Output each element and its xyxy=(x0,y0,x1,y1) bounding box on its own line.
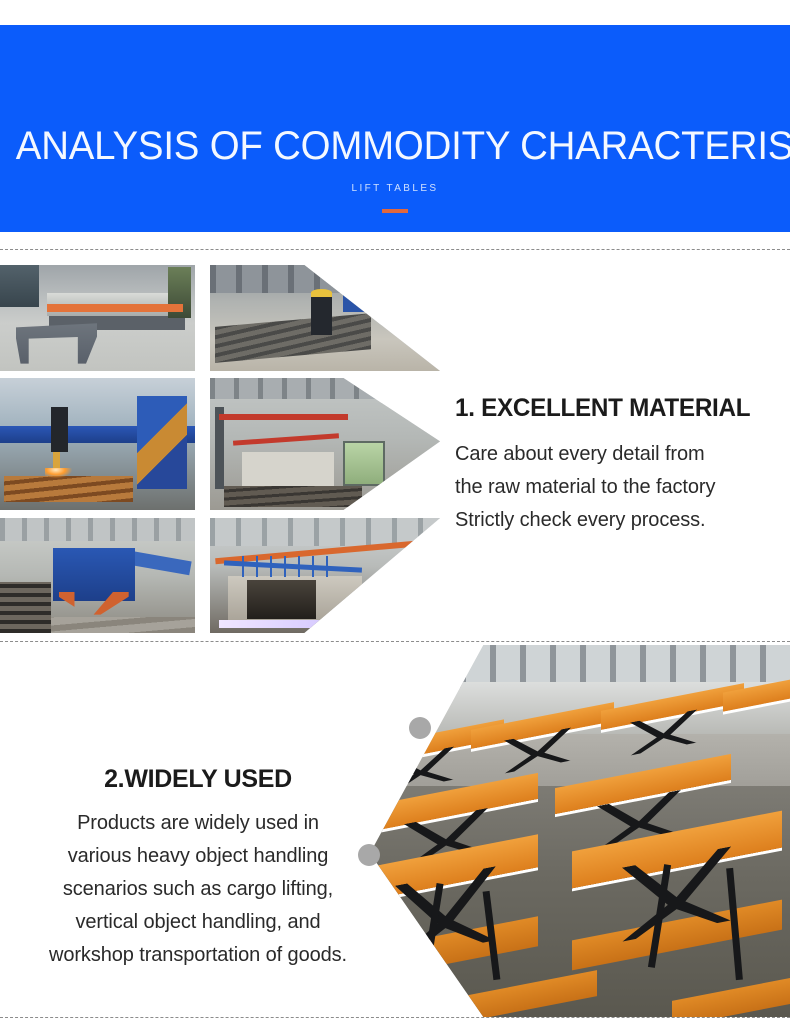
section-1-body-line: Strictly check every process. xyxy=(455,504,785,537)
section-2-body-line: workshop transportation of goods. xyxy=(18,939,378,972)
photo-shot-blasting xyxy=(0,518,195,633)
section-2-heading: 2.WIDELY USED xyxy=(18,763,378,795)
section-1-body: Care about every detail from the raw mat… xyxy=(455,438,785,537)
section-2-body-line: various heavy object handling xyxy=(18,840,378,873)
section-excellent-material: 1. EXCELLENT MATERIAL Care about every d… xyxy=(0,258,790,638)
accent-rule xyxy=(382,209,408,213)
section-1-text-block: 1. EXCELLENT MATERIAL Care about every d… xyxy=(455,392,785,537)
section-2-body: Products are widely used in various heav… xyxy=(18,807,378,972)
photo-collage-1 xyxy=(0,258,440,636)
photo-steel-stock-worker xyxy=(210,265,440,371)
section-1-body-line: Care about every detail from xyxy=(455,438,785,471)
page-root: ANALYSIS OF COMMODITY CHARACTERISTICS LI… xyxy=(0,0,790,1023)
section-2-body-line: vertical object handling, and xyxy=(18,906,378,939)
divider-bottom xyxy=(0,1017,790,1018)
section-widely-used: 2.WIDELY USED Products are widely used i… xyxy=(0,645,790,1017)
section-2-body-line: scenarios such as cargo lifting, xyxy=(18,873,378,906)
divider-top xyxy=(0,249,790,250)
divider-middle xyxy=(0,641,790,642)
photo-paint-line xyxy=(210,518,440,633)
section-2-text-block: 2.WIDELY USED Products are widely used i… xyxy=(18,763,378,972)
page-subtitle: LIFT TABLES xyxy=(0,182,790,196)
photo-plasma-cutting xyxy=(0,378,195,510)
photo-shearing-machine xyxy=(0,265,195,371)
page-title: ANALYSIS OF COMMODITY CHARACTERISTICS xyxy=(16,122,774,170)
section-1-body-line: the raw material to the factory xyxy=(455,471,785,504)
section-1-heading: 1. EXCELLENT MATERIAL xyxy=(455,392,775,424)
section-2-body-line: Products are widely used in xyxy=(18,807,378,840)
photo-crane-workshop xyxy=(210,378,440,510)
header-banner: ANALYSIS OF COMMODITY CHARACTERISTICS LI… xyxy=(0,25,790,232)
photo-scissor-lift-tables xyxy=(370,645,790,1017)
